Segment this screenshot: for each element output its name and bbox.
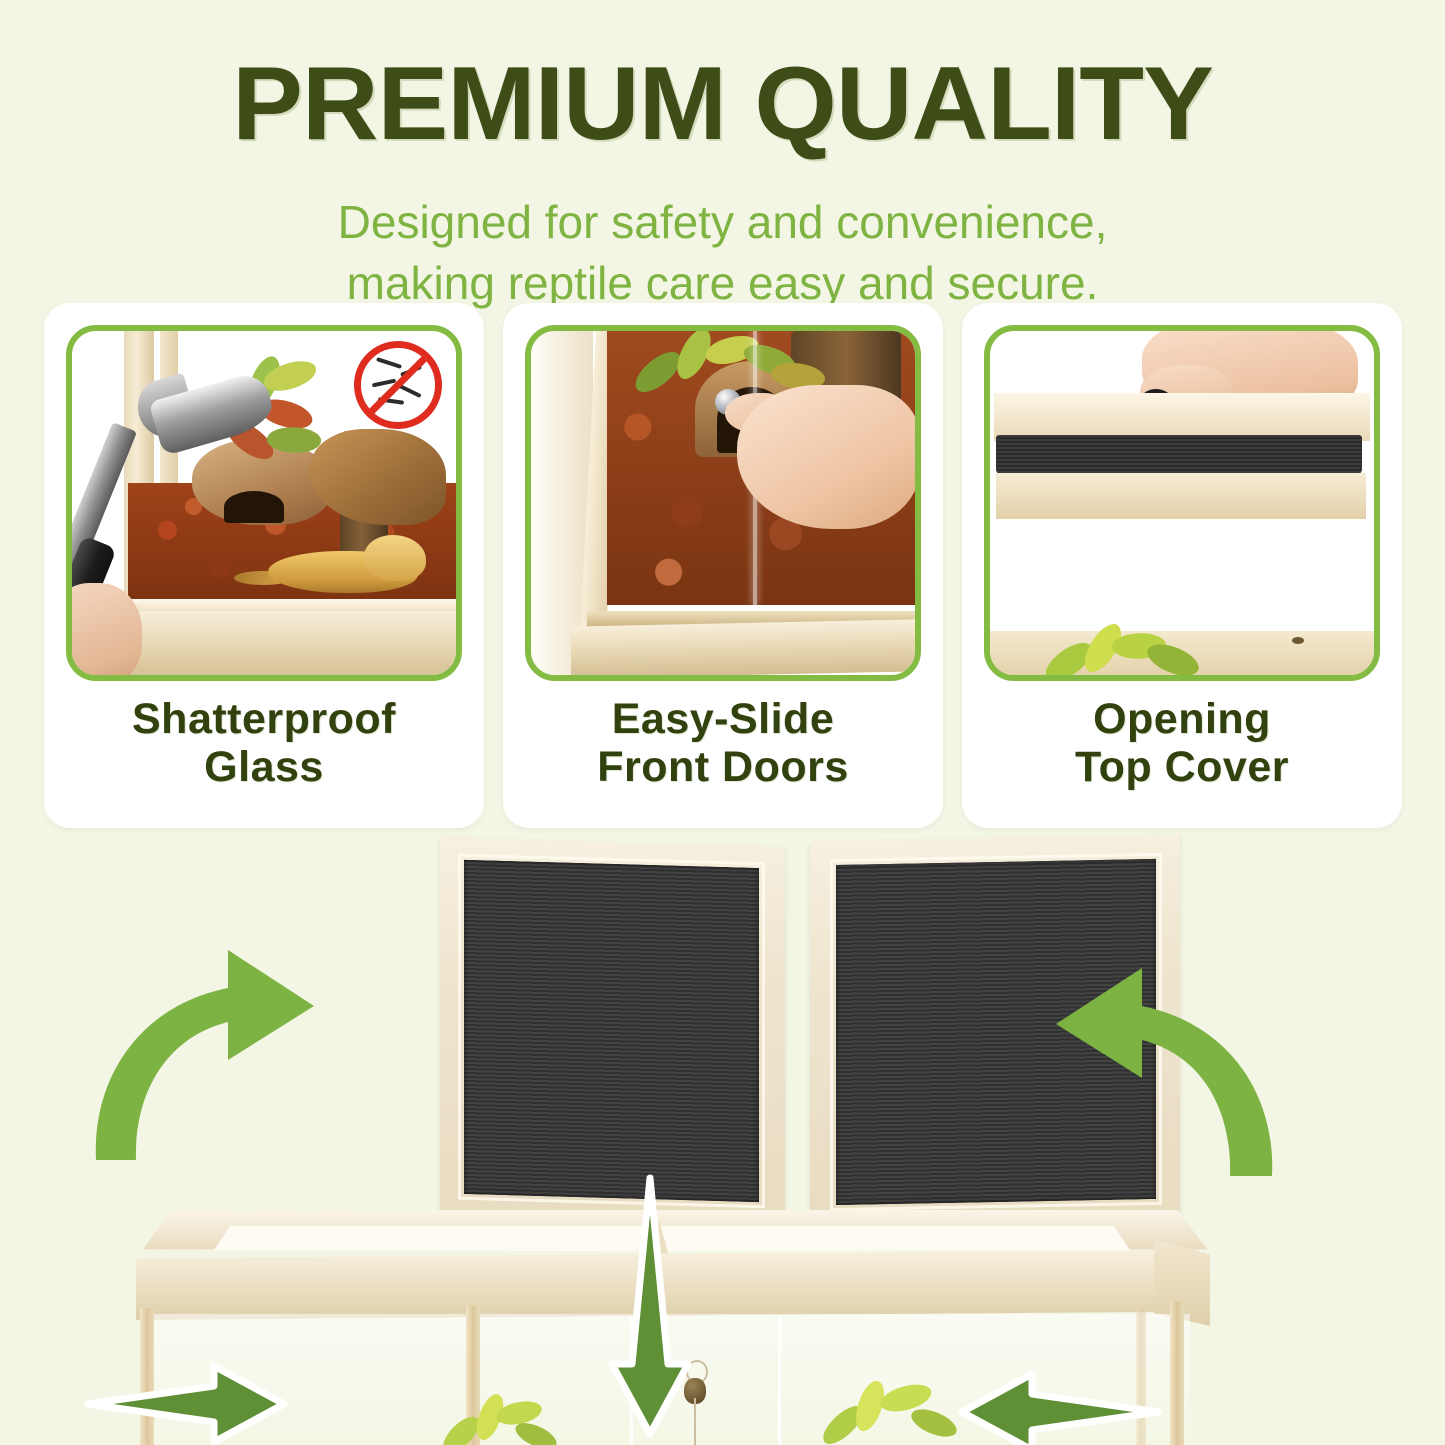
feature-card-opening-top-cover[interactable]: Opening Top Cover: [962, 303, 1402, 828]
arrow-curved-right: [1030, 924, 1290, 1194]
screw-hole-icon: [1292, 637, 1304, 644]
hand-icon: [737, 385, 919, 529]
feature-card-list: Shatterproof Glass: [44, 303, 1402, 828]
card1-label-line1: Shatterproof: [132, 695, 396, 743]
left-mesh-lid[interactable]: [440, 837, 785, 1227]
feature-card-shatterproof-glass[interactable]: Shatterproof Glass: [44, 303, 484, 828]
arrow-straight-right: [958, 1372, 1158, 1445]
opening-top-cover-photo: [984, 325, 1380, 681]
hand-icon: [66, 583, 142, 681]
bearded-dragon-icon: [268, 537, 460, 599]
feature-card-easy-slide-front-doors[interactable]: Easy-Slide Front Doors: [503, 303, 943, 828]
card2-label-line2: Front Doors: [597, 743, 849, 791]
card3-label-line1: Opening: [1075, 695, 1289, 743]
shatterproof-glass-photo: [66, 325, 462, 681]
corner-post-right: [1170, 1302, 1184, 1445]
decor-plant-left: [438, 1398, 558, 1445]
feature-card-label-shatterproof-glass: Shatterproof Glass: [132, 695, 396, 791]
product-photo: [0, 828, 1445, 1445]
mesh-strip: [996, 435, 1362, 475]
easy-slide-front-doors-photo: [525, 325, 921, 681]
card2-label-line1: Easy-Slide: [597, 695, 849, 743]
feature-card-label-easy-slide-front-doors: Easy-Slide Front Doors: [597, 695, 849, 791]
feature-card-label-opening-top-cover: Opening Top Cover: [1075, 695, 1289, 791]
arrow-straight-down: [610, 1178, 690, 1438]
arrow-straight-left: [88, 1364, 288, 1444]
decor-plant-right: [818, 1384, 958, 1445]
infographic-page: PREMIUM QUALITY Designed for safety and …: [0, 0, 1445, 1445]
page-title: PREMIUM QUALITY: [0, 52, 1445, 156]
subtitle-line-1: Designed for safety and convenience,: [0, 192, 1445, 253]
card1-label-line2: Glass: [132, 743, 396, 791]
page-subtitle: Designed for safety and convenience, mak…: [0, 192, 1445, 314]
decor-plant-icon: [1042, 633, 1202, 679]
card3-label-line2: Top Cover: [1075, 743, 1289, 791]
arrow-curved-left: [78, 910, 348, 1180]
no-crack-icon: [354, 341, 442, 429]
